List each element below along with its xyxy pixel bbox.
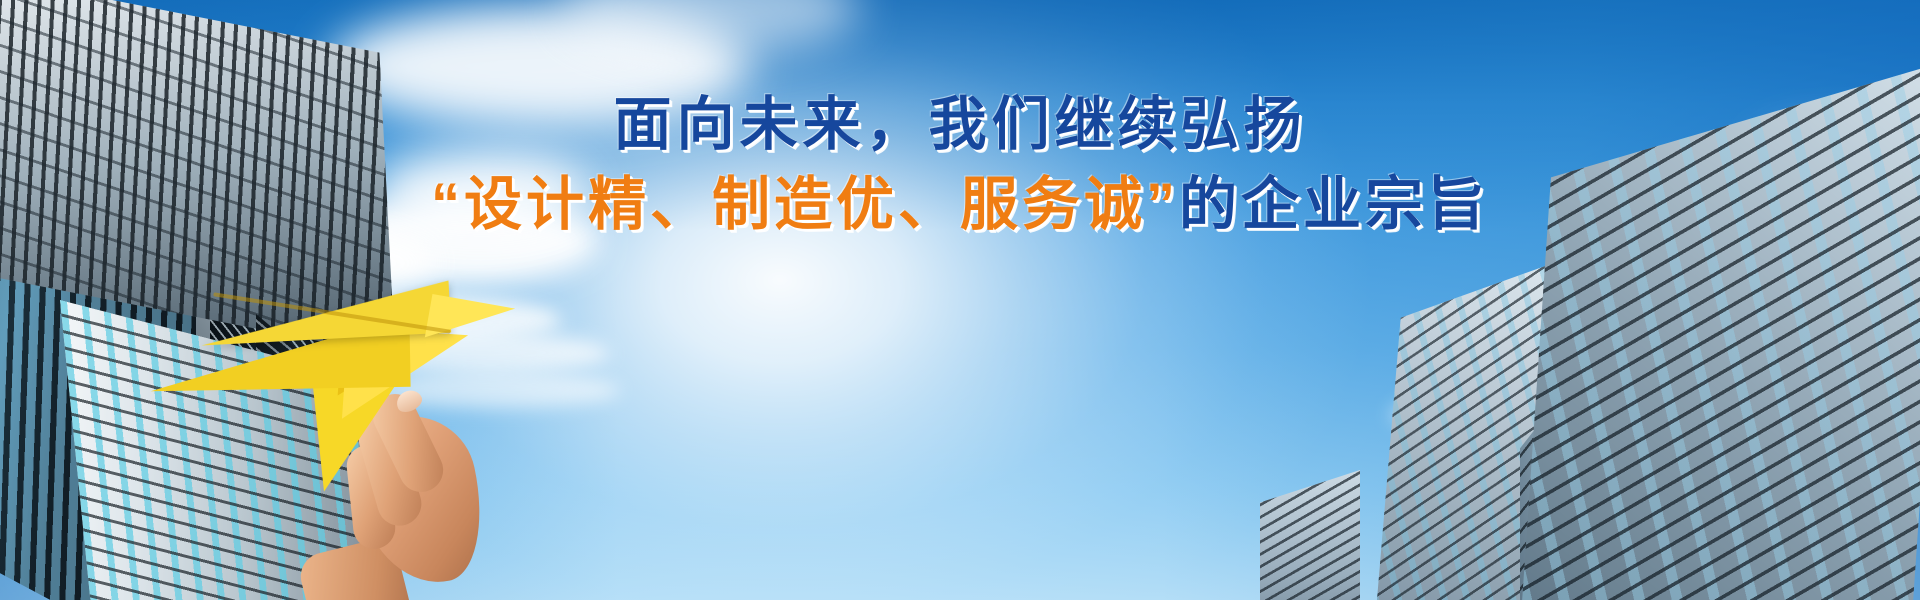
paper-airplane-in-hand: [190, 265, 520, 515]
corporate-hero-banner: 面向未来，我们继续弘扬 “设计精、制造优、服务诚”的企业宗旨: [0, 0, 1920, 600]
headline-slogan-suffix: 的企业宗旨: [1179, 172, 1489, 237]
headline-slogan-quoted: “设计精、制造优、服务诚”: [431, 172, 1179, 237]
banner-headline: 面向未来，我们继续弘扬 “设计精、制造优、服务诚”的企业宗旨: [0, 96, 1920, 234]
headline-line-1: 面向未来，我们继续弘扬: [0, 96, 1920, 154]
building-right-small-windows: [1260, 470, 1360, 600]
building-right-small: [1240, 470, 1360, 600]
headline-line-2: “设计精、制造优、服务诚”的企业宗旨: [0, 176, 1920, 234]
